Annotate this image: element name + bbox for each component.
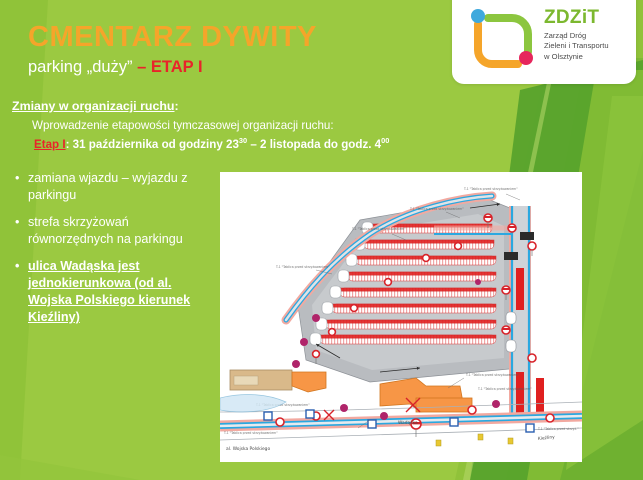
logo-line-2: Zieleni i Transportu xyxy=(544,41,634,51)
page-title: CMENTARZ DYWITY xyxy=(28,22,428,52)
map-street-label-wadaska: Wadąska xyxy=(398,420,418,426)
bullet-dot-icon: • xyxy=(15,214,19,231)
subtitle-stage-label: – ETAP I xyxy=(137,58,202,76)
changes-bullet-list: •zamiana wjazdu – wyjazdu z parkingu •st… xyxy=(8,170,208,337)
page-subtitle: parking „duży” – ETAP I xyxy=(28,58,428,76)
svg-text:T-1 "Tablica przed skrzyżowani: T-1 "Tablica przed skrzyżowaniem" xyxy=(275,265,330,269)
stage-text-a: 31 października od godziny 23 xyxy=(69,138,238,151)
bullet-dot-icon: • xyxy=(15,170,19,187)
logo-acronym: ZDZiT xyxy=(544,8,634,27)
svg-text:T-1 "Tablica przed skrzyżowani: T-1 "Tablica przed skrzyżowaniem" xyxy=(477,387,532,391)
intro-heading-underlined: Zmiany w organizacji ruchu xyxy=(12,99,175,113)
stage-label: Etap I xyxy=(34,138,66,151)
svg-text:T-1 "Tablica przed skrzyżowani: T-1 "Tablica przed skrzyżowaniem" xyxy=(463,187,518,191)
svg-text:T-1 "Tablica przed skrzyżowani: T-1 "Tablica przed skrzyżowaniem" xyxy=(223,431,278,435)
bullet-text: strefa skrzyżowań równorzędnych na parki… xyxy=(28,215,183,246)
zdzit-logo-mark-icon xyxy=(466,8,538,74)
zdzit-logo-text: ZDZiT Zarząd Dróg Zieleni i Transportu w… xyxy=(544,8,634,62)
intro-block: Zmiany w organizacji ruchu: Wprowadzenie… xyxy=(12,99,482,152)
svg-text:T-1 "Tablica przed skrzyżowani: T-1 "Tablica przed skrzyżowaniem" xyxy=(351,227,406,231)
logo-full-name: Zarząd Dróg Zieleni i Transportu w Olszt… xyxy=(544,31,634,62)
traffic-plan-map[interactable]: T-1 "Tablica przed skrzyżowaniem" T-1 "T… xyxy=(220,172,582,462)
list-item: •strefa skrzyżowań równorzędnych na park… xyxy=(8,214,208,247)
title-block: CMENTARZ DYWITY parking „duży” – ETAP I xyxy=(28,22,428,77)
bullet-dot-icon: • xyxy=(15,258,19,275)
logo-line-1: Zarząd Dróg xyxy=(544,31,634,41)
intro-heading-colon: : xyxy=(175,99,179,113)
intro-heading: Zmiany w organizacji ruchu: xyxy=(12,99,482,114)
bullet-text: ulica Wadąska jest jednokierunkowa (od a… xyxy=(28,259,190,324)
map-street-label-wojska: al. Wojska Polskiego xyxy=(226,446,270,452)
stage-sup-b: 00 xyxy=(381,136,389,145)
svg-text:T-1 "Tablica przed skrzyżowani: T-1 "Tablica przed skrzyżowaniem" xyxy=(409,207,464,211)
intro-line: Wprowadzenie etapowości tymczasowej orga… xyxy=(32,119,482,133)
list-item: •ulica Wadąska jest jednokierunkowa (od … xyxy=(8,258,208,326)
bullet-text: zamiana wjazdu – wyjazdu z parkingu xyxy=(28,171,188,202)
intro-stage-line: Etap I: 31 października od godziny 2330 … xyxy=(34,138,482,152)
stage-text-b: – 2 listopada do godz. 4 xyxy=(247,138,381,151)
subtitle-parking-label: parking „duży” xyxy=(28,58,133,76)
list-item: •zamiana wjazdu – wyjazdu z parkingu xyxy=(8,170,208,203)
stage-sup-a: 30 xyxy=(239,136,247,145)
logo-line-3: w Olsztynie xyxy=(544,52,634,62)
svg-text:T-1 "Tablica przed skrzyżowani: T-1 "Tablica przed skrzyżowaniem" xyxy=(465,373,520,377)
slide-root: CMENTARZ DYWITY parking „duży” – ETAP I … xyxy=(0,0,643,480)
svg-text:T-1 "Tablica przed skrzyż.": T-1 "Tablica przed skrzyż." xyxy=(537,427,579,431)
zdzit-logo-card: ZDZiT Zarząd Dróg Zieleni i Transportu w… xyxy=(452,0,636,84)
